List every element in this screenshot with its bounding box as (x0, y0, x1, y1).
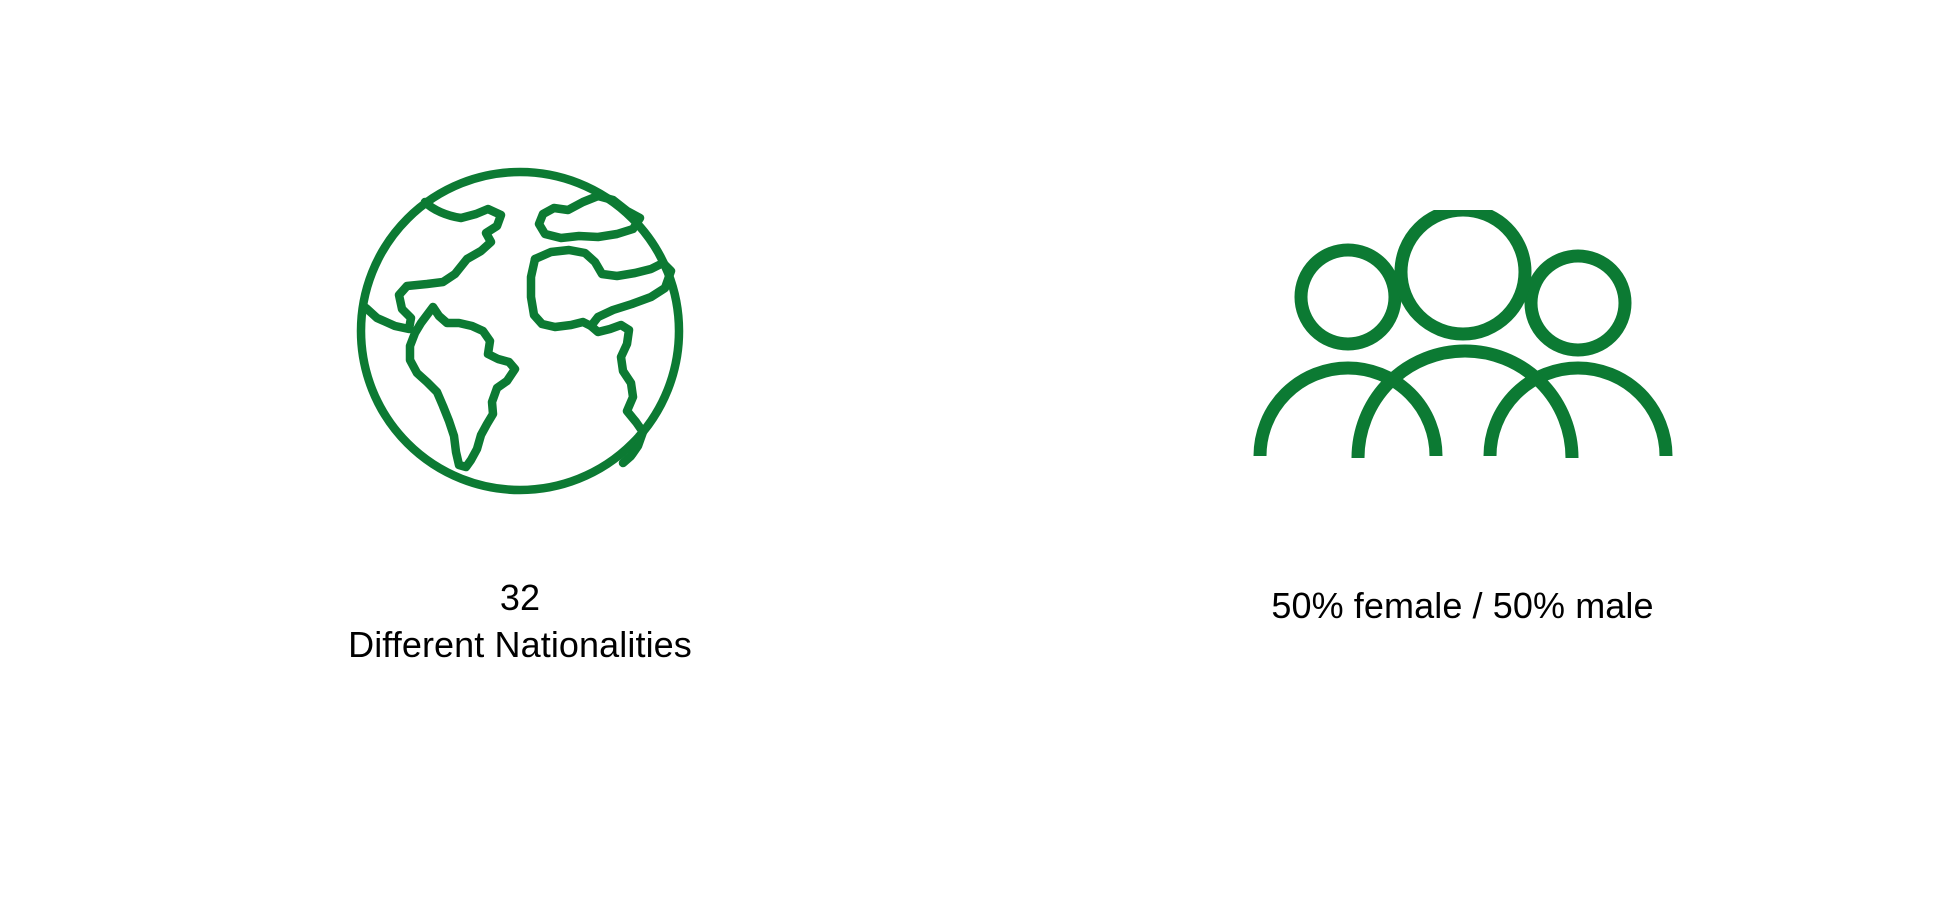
nationalities-label: Different Nationalities (348, 622, 692, 669)
infographic-canvas: 32 Different Nationalities (0, 0, 1950, 901)
people-group-icon (1228, 165, 1698, 505)
globe-icon (355, 158, 685, 503)
nationalities-value: 32 (348, 575, 692, 622)
nationalities-caption: 32 Different Nationalities (348, 575, 692, 669)
stat-block-gender: 50% female / 50% male (975, 0, 1950, 630)
gender-ratio-label: 50% female / 50% male (1271, 583, 1653, 630)
gender-caption: 50% female / 50% male (1271, 583, 1653, 630)
stat-block-nationalities: 32 Different Nationalities (0, 0, 1040, 669)
